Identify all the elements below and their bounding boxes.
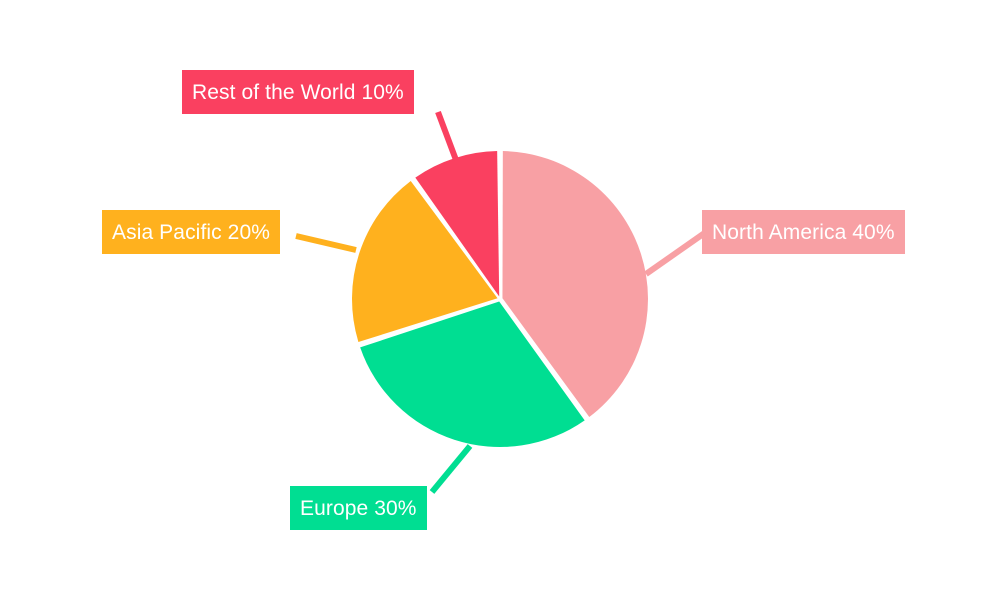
pie-slices — [352, 151, 648, 447]
leader-line-north-america — [646, 232, 706, 274]
pie-label-asia-pacific[interactable]: Asia Pacific 20% — [102, 210, 280, 254]
leader-line-rest-of-world — [438, 112, 456, 160]
pie-chart: North America 40% Europe 30% Asia Pacifi… — [0, 0, 1000, 600]
pie-chart-canvas — [0, 0, 1000, 600]
pie-label-rest-of-world[interactable]: Rest of the World 10% — [182, 70, 414, 114]
pie-label-europe[interactable]: Europe 30% — [290, 486, 427, 530]
leader-line-europe — [432, 446, 470, 492]
leader-line-asia-pacific — [296, 236, 356, 250]
pie-label-north-america[interactable]: North America 40% — [702, 210, 905, 254]
